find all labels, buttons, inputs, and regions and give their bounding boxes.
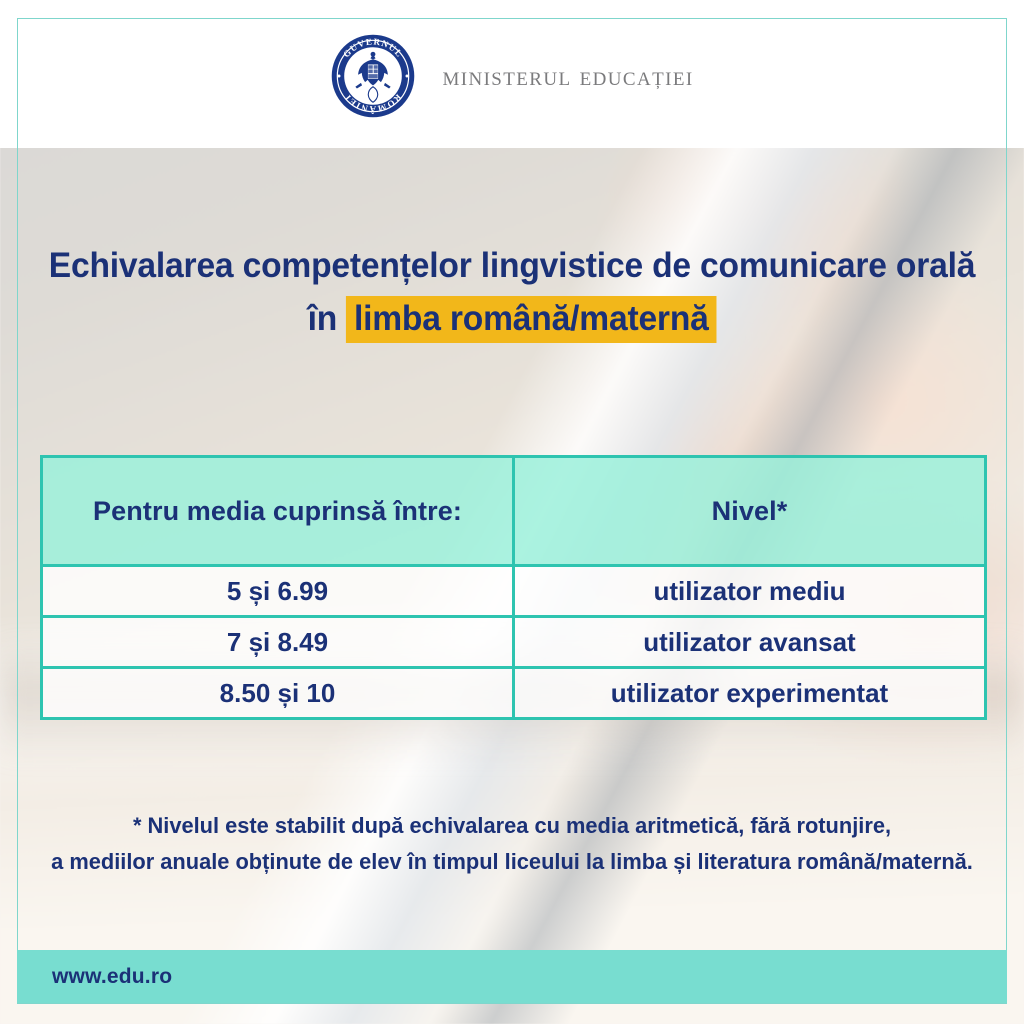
title-line-2-prefix: în xyxy=(308,299,347,338)
table-row: 8.50 și 10 utilizator experimentat xyxy=(42,668,986,719)
title-highlight: limba română/maternă xyxy=(346,296,716,343)
equivalence-table: Pentru media cuprinsă între: Nivel* 5 și… xyxy=(40,455,987,720)
footer-band: www.edu.ro xyxy=(17,950,1007,1003)
cell-nivel: utilizator mediu xyxy=(514,566,986,617)
page-title: Echivalarea competențelor lingvistice de… xyxy=(0,243,1024,341)
infographic-poster: GUVERNUL ROMÂNIEI Ministerul Educației xyxy=(0,0,1024,1024)
title-line-2: în limba română/maternă xyxy=(20,296,1003,342)
ministry-name: Ministerul Educației xyxy=(442,61,693,92)
table-header-row: Pentru media cuprinsă între: Nivel* xyxy=(42,457,986,566)
column-header-media: Pentru media cuprinsă între: xyxy=(42,457,514,566)
cell-media: 7 și 8.49 xyxy=(42,617,514,668)
cell-nivel: utilizator experimentat xyxy=(514,668,986,719)
cell-nivel: utilizator avansat xyxy=(514,617,986,668)
footnote: * Nivelul este stabilit după echivalarea… xyxy=(15,808,1008,881)
romanian-government-seal-icon: GUVERNUL ROMÂNIEI xyxy=(330,33,416,119)
footnote-line-2: a mediilor anuale obținute de elev în ti… xyxy=(15,844,1008,880)
footnote-line-1: * Nivelul este stabilit după echivalarea… xyxy=(15,808,1008,844)
cell-media: 5 și 6.99 xyxy=(42,566,514,617)
footer-website-url[interactable]: www.edu.ro xyxy=(52,965,172,989)
table-row: 7 și 8.49 utilizator avansat xyxy=(42,617,986,668)
table-row: 5 și 6.99 utilizator mediu xyxy=(42,566,986,617)
masthead: GUVERNUL ROMÂNIEI Ministerul Educației xyxy=(0,0,1024,148)
cell-media: 8.50 și 10 xyxy=(42,668,514,719)
title-line-1: Echivalarea competențelor lingvistice de… xyxy=(20,243,1003,289)
column-header-nivel: Nivel* xyxy=(514,457,986,566)
